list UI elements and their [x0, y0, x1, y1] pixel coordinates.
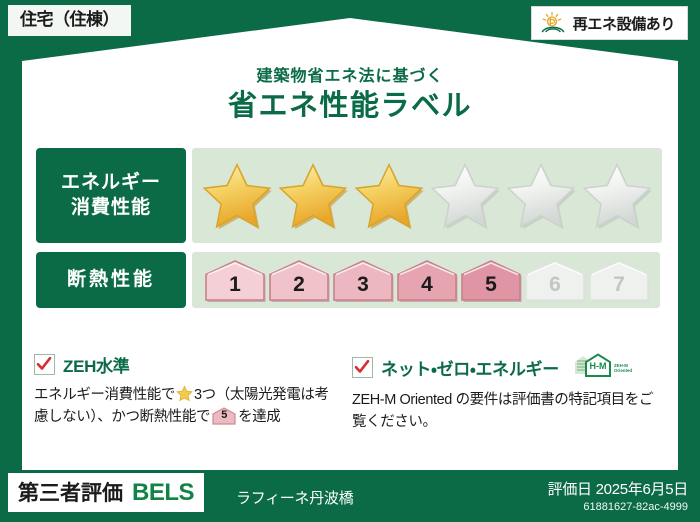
building-type-label: 住宅（住棟）	[20, 10, 119, 29]
insulation-step-2: 2	[266, 258, 332, 302]
insulation-step-6: 6	[522, 258, 588, 302]
note-zeh-title: ZEH水準	[63, 352, 130, 377]
solar-sun-icon	[540, 11, 566, 35]
star-empty-icon	[504, 160, 578, 232]
building-type-tag: 住宅（住棟）	[8, 5, 131, 36]
evaluation-date-label: 評価日	[548, 481, 592, 498]
note-net-zero-energy: ネット・ゼロ・エネルギー H-M ZEH-M Ori	[352, 352, 670, 434]
insulation-step-7: 7	[586, 258, 652, 302]
note-nze-header: ネット・ゼロ・エネルギー H-M ZEH-M Ori	[352, 352, 656, 382]
renewable-energy-badge: 再エネ設備あり	[531, 6, 688, 40]
label-footer: 第三者評価 BELS ラフィーネ丹波橋 評価日 2025年6月5日 618816…	[0, 470, 700, 522]
energy-performance-label-box: エネルギー 消費性能	[36, 148, 186, 243]
insulation-house-steps: 1234567	[202, 258, 650, 302]
insulation-step-number: 6	[522, 273, 588, 297]
insulation-step-3: 3	[330, 258, 396, 302]
bels-certification-box: 第三者評価 BELS	[8, 473, 204, 512]
insulation-step-number: 4	[394, 273, 460, 297]
insulation-performance-row: 断熱性能 1234567	[36, 252, 660, 308]
insulation-step-number: 7	[586, 273, 652, 297]
insulation-step-4: 4	[394, 258, 460, 302]
star-empty-icon	[580, 160, 654, 232]
note-zeh-body: エネルギー消費性能で3つ（太陽光発電は考慮しない）、かつ断熱性能で5を達成	[34, 384, 338, 429]
note-nze-title: ネット・ゼロ・エネルギー	[381, 355, 559, 380]
bels-logo-text: BELS	[132, 479, 194, 507]
check-icon	[34, 354, 55, 375]
insulation-step-number: 2	[266, 273, 332, 297]
note-zeh-standard: ZEH水準 エネルギー消費性能で3つ（太陽光発電は考慮しない）、かつ断熱性能で5…	[34, 352, 352, 434]
star-empty-icon	[428, 160, 502, 232]
insulation-scale: 1234567	[192, 252, 660, 308]
energy-label-line1: エネルギー	[61, 171, 161, 195]
energy-star-rating	[192, 148, 662, 243]
performance-rows: エネルギー 消費性能 断熱性能 1234567	[36, 148, 660, 317]
inline-house-badge: 5	[212, 407, 236, 425]
insulation-step-5: 5	[458, 258, 524, 302]
star-filled-icon	[200, 160, 274, 232]
insulation-step-number: 3	[330, 273, 396, 297]
check-icon	[352, 357, 373, 378]
inline-house-value: 5	[212, 407, 236, 424]
insulation-step-1: 1	[202, 258, 268, 302]
star-filled-icon	[276, 160, 350, 232]
svg-text:H-M: H-M	[589, 361, 606, 371]
evaluation-date-value: 2025年6月5日	[596, 481, 688, 498]
bels-jp-label: 第三者評価	[18, 477, 123, 507]
insulation-label-line1: 断熱性能	[67, 268, 155, 292]
insulation-step-number: 1	[202, 273, 268, 297]
notes-section: ZEH水準 エネルギー消費性能で3つ（太陽光発電は考慮しない）、かつ断熱性能で5…	[34, 352, 670, 434]
star-filled-icon	[352, 160, 426, 232]
evaluation-date: 評価日 2025年6月5日	[548, 478, 688, 499]
property-name: ラフィーネ丹波橋	[236, 487, 353, 508]
energy-label-line2: 消費性能	[71, 196, 151, 220]
energy-performance-row: エネルギー 消費性能	[36, 148, 660, 243]
evaluation-meta: 評価日 2025年6月5日 61881627-82ac-4999	[548, 478, 688, 513]
note-nze-body: ZEH-M Oriented の要件は評価書の特記項目をご覧ください。	[352, 389, 656, 434]
insulation-performance-label-box: 断熱性能	[36, 252, 186, 308]
evaluation-id: 61881627-82ac-4999	[548, 501, 688, 513]
renewable-badge-label: 再エネ設備あり	[573, 13, 675, 34]
note-zeh-header: ZEH水準	[34, 352, 338, 377]
inline-star-icon	[176, 385, 193, 402]
page-title: 省エネ性能ラベル	[0, 82, 700, 124]
svg-text:Oriented: Oriented	[614, 368, 632, 373]
energy-performance-label: 住宅（住棟） 再エネ設備あり 建築物省エネ法に基づく 省エネ性能ラ	[0, 0, 700, 522]
insulation-step-number: 5	[458, 273, 524, 297]
note-zeh-body-prefix: エネルギー消費性能で	[34, 387, 175, 403]
note-zeh-body-suffix: を達成	[238, 409, 280, 425]
zeh-m-oriented-house-logo: H-M ZEH-M Oriented	[567, 352, 633, 382]
